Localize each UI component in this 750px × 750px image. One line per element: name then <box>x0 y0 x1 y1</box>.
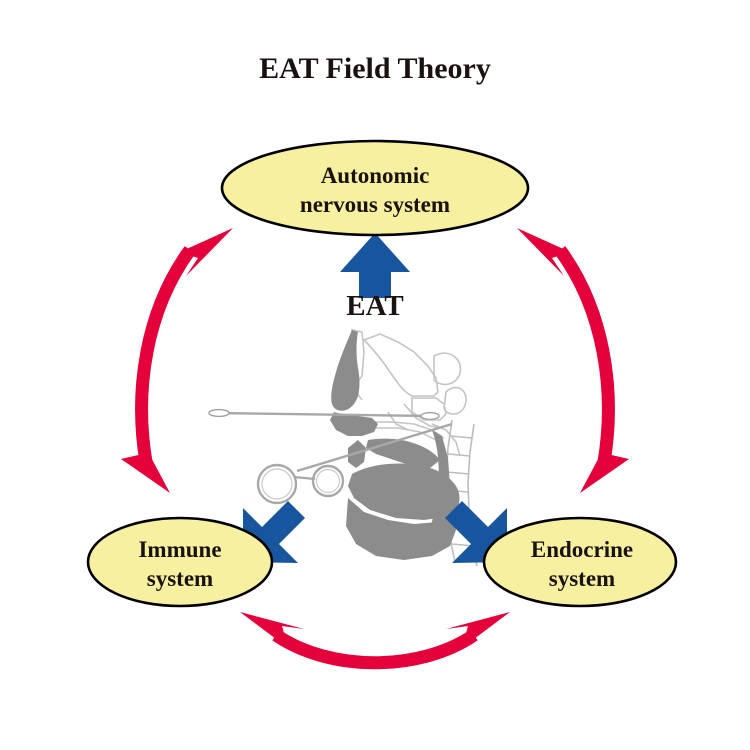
node-label-line2: system <box>147 566 213 591</box>
eat-center-label: EAT <box>346 290 403 322</box>
node-endocrine-system[interactable]: Endocrine system <box>484 518 676 606</box>
node-label-line1: Immune <box>138 537 221 562</box>
connector-autonomic-endocrine <box>517 228 629 493</box>
node-ellipse <box>88 518 272 606</box>
node-autonomic-nervous-system[interactable]: Autonomic nervous system <box>222 141 528 235</box>
node-ellipse <box>222 141 528 235</box>
node-label-line1: Autonomic <box>321 163 430 188</box>
node-immune-system[interactable]: Immune system <box>88 518 272 606</box>
figure-canvas: EAT Field Theory <box>0 0 750 750</box>
node-label-line2: system <box>549 566 615 591</box>
blue-arrow-eat-to-autonomic <box>340 233 410 298</box>
node-ellipse <box>484 518 676 606</box>
soft-tissue-silhouette <box>330 330 459 560</box>
node-label-line2: nervous system <box>300 192 450 217</box>
eat-field-theory-figure: EAT Field Theory <box>0 0 750 750</box>
page-title: EAT Field Theory <box>259 52 491 85</box>
connector-immune-endocrine <box>240 612 510 663</box>
nasal-swab-instrument <box>209 410 439 420</box>
connector-autonomic-immune <box>121 228 233 493</box>
node-label-line1: Endocrine <box>531 537 633 562</box>
